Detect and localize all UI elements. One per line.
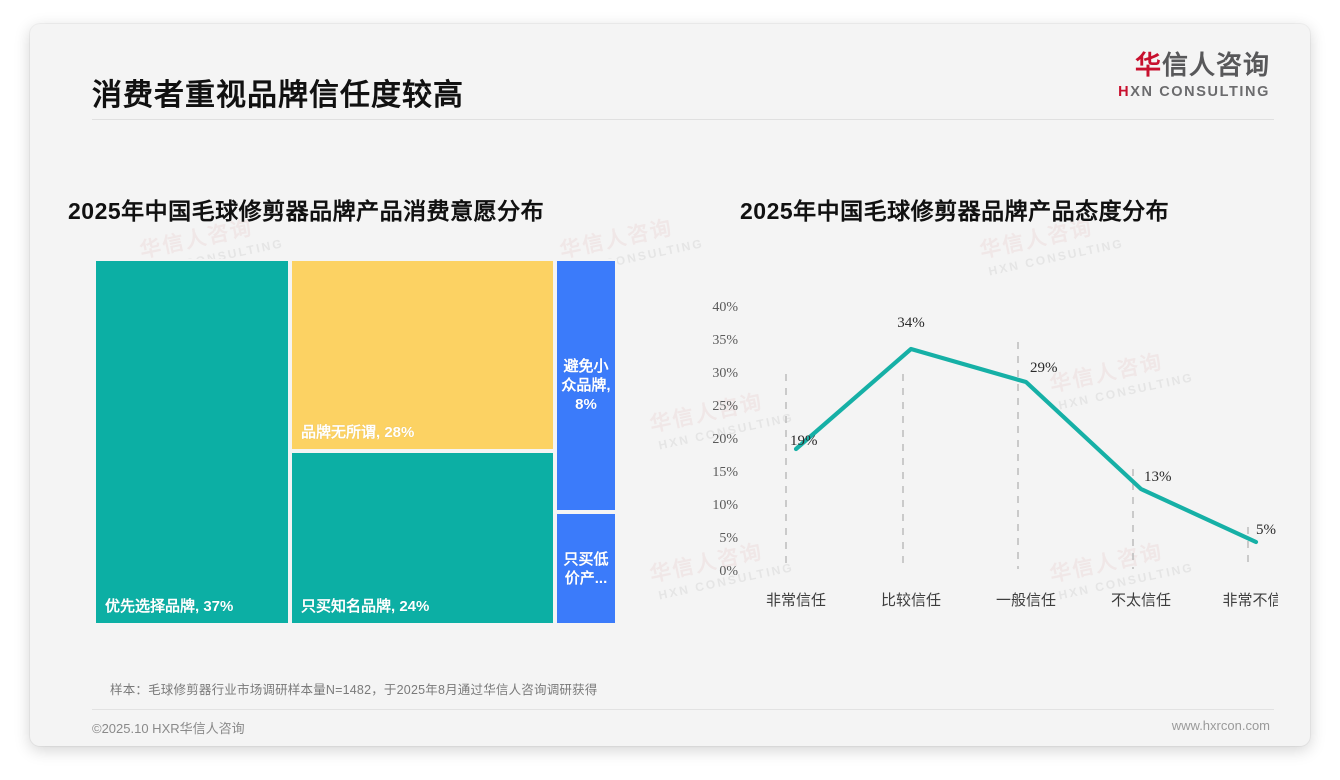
footer-divider: [92, 709, 1274, 710]
right-chart-title: 2025年中国毛球修剪器品牌产品态度分布: [740, 192, 1169, 226]
page-title: 消费者重视品牌信任度较高: [92, 70, 464, 114]
data-label: 19%: [790, 433, 818, 449]
x-axis-tick: 不太信任: [1111, 592, 1171, 609]
treemap-cell[interactable]: 只买知名品牌, 24%: [290, 451, 555, 625]
data-label: 29%: [1030, 360, 1058, 376]
watermark-en-text: HXN CONSULTING: [987, 236, 1125, 278]
logo-cn-highlight: 华: [1135, 50, 1162, 80]
line-series: [796, 349, 1256, 542]
data-label: 13%: [1144, 469, 1172, 485]
x-axis-tick: 非常信任: [766, 592, 826, 609]
treemap-cell-label: 优先选择品牌, 37%: [105, 595, 233, 616]
treemap-cell[interactable]: 避免小众品牌, 8%: [555, 259, 617, 512]
y-axis-tick: 5%: [719, 531, 738, 546]
treemap-cell[interactable]: 品牌无所谓, 28%: [290, 259, 555, 451]
y-axis-tick: 20%: [712, 432, 738, 447]
treemap-cell-label: 只买知名品牌, 24%: [301, 595, 429, 616]
y-axis-tick: 0%: [719, 564, 738, 579]
slide-header: 消费者重视品牌信任度较高 华信人咨询 HXN CONSULTING: [30, 24, 1310, 120]
data-label: 5%: [1256, 522, 1276, 538]
y-axis-tick: 35%: [712, 333, 738, 348]
left-chart-title: 2025年中国毛球修剪器品牌产品消费意愿分布: [68, 192, 544, 226]
y-axis-tick: 10%: [712, 498, 738, 513]
slide-card: 华信人咨询 HXN CONSULTING 华信人咨询 HXN CONSULTIN…: [30, 24, 1310, 746]
logo-cn-rest: 信人咨询: [1162, 50, 1270, 80]
y-axis-tick: 15%: [712, 465, 738, 480]
logo-en-rest: XN CONSULTING: [1130, 84, 1270, 100]
treemap-cell-label: 避免小众品牌, 8%: [557, 357, 615, 415]
y-axis-tick: 25%: [712, 399, 738, 414]
logo-english-text: HXN CONSULTING: [1118, 85, 1270, 100]
copyright-text: ©2025.10 HXR华信人咨询: [92, 718, 245, 737]
x-axis-tick: 比较信任: [881, 591, 941, 609]
x-axis-tick: 一般信任: [996, 592, 1056, 609]
logo-chinese-text: 华信人咨询: [1118, 52, 1270, 78]
treemap-chart: 优先选择品牌, 37% 品牌无所谓, 28% 只买知名品牌, 24% 避免小众品…: [94, 259, 641, 625]
website-url[interactable]: www.hxrcon.com: [1172, 718, 1270, 733]
line-chart-svg: 40% 35% 30% 25% 20% 15% 10% 5% 0% 19% 34…: [678, 279, 1278, 619]
treemap-cell-label: 品牌无所谓, 28%: [301, 421, 414, 442]
y-axis-tick: 40%: [712, 300, 738, 315]
logo-en-highlight: H: [1118, 84, 1130, 100]
treemap-cell-label: 只买低价产...: [557, 549, 615, 587]
data-label: 34%: [897, 315, 925, 331]
y-axis-tick: 30%: [712, 366, 738, 381]
source-footnote: 样本：毛球修剪器行业市场调研样本量N=1482，于2025年8月通过华信人咨询调…: [110, 679, 598, 698]
brand-logo: 华信人咨询 HXN CONSULTING: [1118, 52, 1270, 100]
treemap-cell[interactable]: 只买低价产...: [555, 512, 617, 625]
header-divider: [92, 119, 1274, 120]
x-axis-tick: 非常不信任: [1222, 592, 1278, 609]
watermark-cn-text: 华信人咨询: [557, 206, 702, 265]
line-chart: 40% 35% 30% 25% 20% 15% 10% 5% 0% 19% 34…: [678, 279, 1278, 619]
treemap-cell[interactable]: 优先选择品牌, 37%: [94, 259, 290, 625]
